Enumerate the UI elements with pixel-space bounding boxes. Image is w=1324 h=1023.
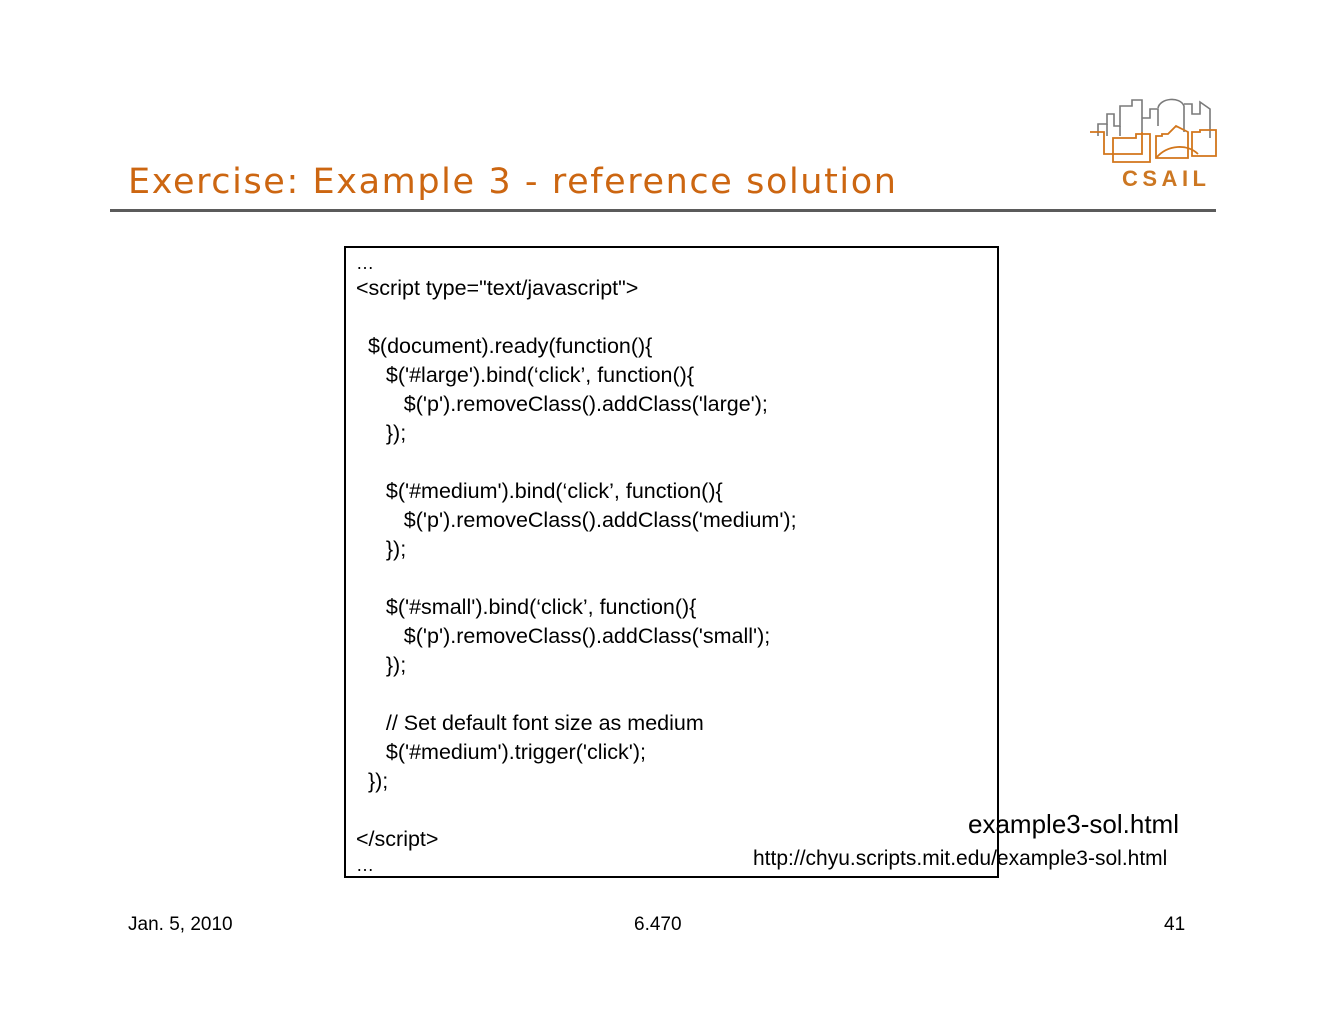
code-line: }); xyxy=(356,535,996,564)
code-line: $('#small').bind(‘click’, function(){ xyxy=(356,593,996,622)
code-line xyxy=(356,303,996,332)
url-caption: http://chyu.scripts.mit.edu/example3-sol… xyxy=(753,845,1167,872)
code-line: $('p').removeClass().addClass('medium'); xyxy=(356,506,996,535)
csail-skyline-icon xyxy=(1080,92,1225,170)
code-line: $('#large').bind(‘click’, function(){ xyxy=(356,361,996,390)
code-line: $('p').removeClass().addClass('large'); xyxy=(356,390,996,419)
code-listing: …<script type="text/javascript"> $(docum… xyxy=(356,252,996,876)
code-line xyxy=(356,680,996,709)
csail-wordmark: CSAIL xyxy=(1122,166,1211,192)
code-line: $(document).ready(function(){ xyxy=(356,332,996,361)
code-line: }); xyxy=(356,419,996,448)
code-line: }); xyxy=(356,767,996,796)
csail-logo: CSAIL xyxy=(1080,92,1225,197)
footer-date: Jan. 5, 2010 xyxy=(128,912,233,938)
code-line: … xyxy=(356,252,996,274)
code-line: $('#medium').trigger('click'); xyxy=(356,738,996,767)
code-line xyxy=(356,448,996,477)
code-line: }); xyxy=(356,651,996,680)
code-line xyxy=(356,564,996,593)
footer-page-number: 41 xyxy=(1164,912,1185,938)
file-name-caption: example3-sol.html xyxy=(968,808,1179,840)
slide-canvas: Exercise: Example 3 - reference solution… xyxy=(0,0,1324,1023)
code-line xyxy=(356,796,996,825)
title-divider xyxy=(110,209,1216,212)
page-title: Exercise: Example 3 - reference solution xyxy=(128,158,1058,206)
footer-course: 6.470 xyxy=(634,912,682,938)
code-line: <script type="text/javascript"> xyxy=(356,274,996,303)
code-line: $('p').removeClass().addClass('small'); xyxy=(356,622,996,651)
code-line: // Set default font size as medium xyxy=(356,709,996,738)
code-line: $('#medium').bind(‘click’, function(){ xyxy=(356,477,996,506)
